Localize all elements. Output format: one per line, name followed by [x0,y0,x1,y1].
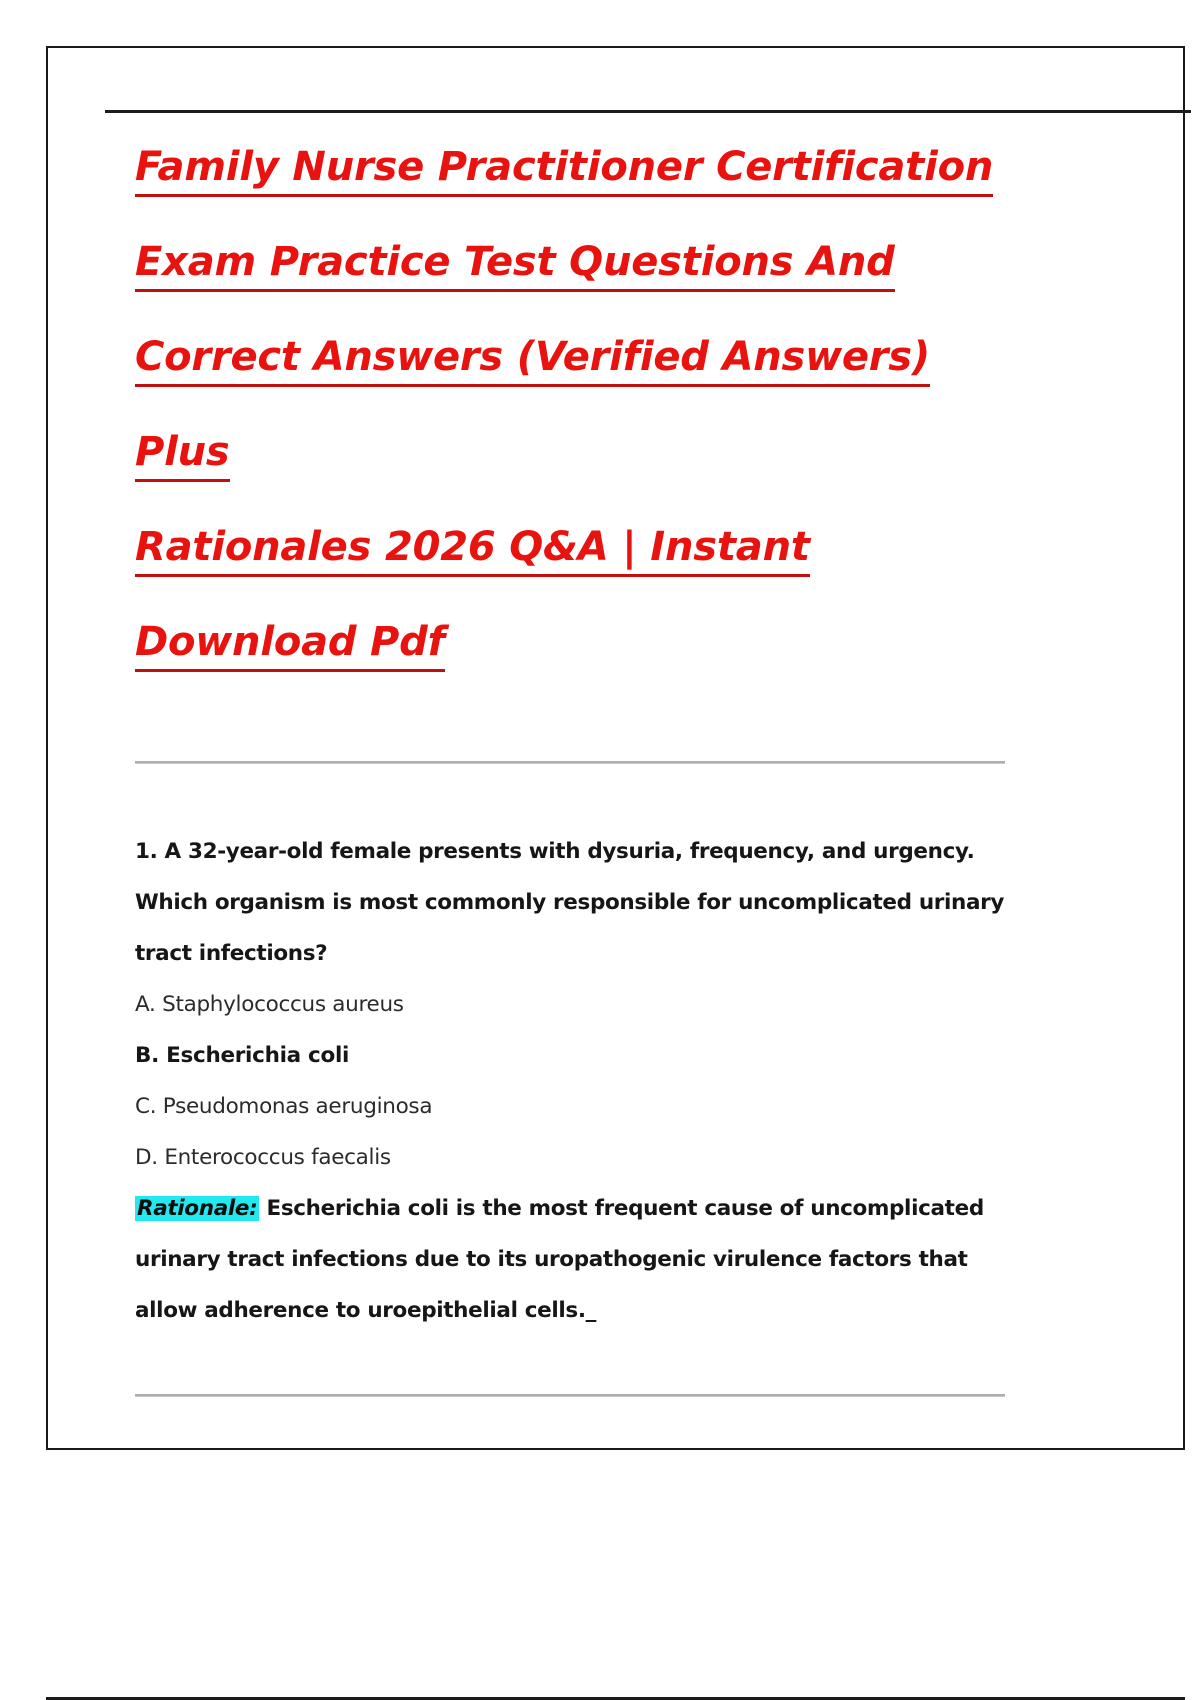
question-stem: 1. A 32-year-old female presents with dy… [135,826,1007,979]
page-top-rule [105,110,1191,113]
rationale-paragraph: Rationale: Escherichia coli is the most … [135,1183,1007,1336]
rationale-label: Rationale: [135,1196,259,1221]
question-block: 1. A 32-year-old female presents with dy… [135,826,1010,1336]
rationale-text: Escherichia coli is the most frequent ca… [135,1196,984,1323]
title-line-4: Rationales 2026 Q&A | Instant [135,524,810,577]
answer-option-d[interactable]: D. Enterococcus faecalis [135,1132,1010,1183]
title-line-1: Family Nurse Practitioner Certification [135,144,993,197]
page-title: Family Nurse Practitioner Certification … [135,120,1015,690]
answer-option-a[interactable]: A. Staphylococcus aureus [135,979,1010,1030]
title-line-2: Exam Practice Test Questions And [135,239,895,292]
document-content: Family Nurse Practitioner Certification … [135,120,1010,1397]
answer-option-c[interactable]: C. Pseudomonas aeruginosa [135,1081,1010,1132]
answer-option-b[interactable]: B. Escherichia coli [135,1030,1010,1081]
separator-rule-bottom [135,1394,1005,1397]
separator-rule-top [135,761,1005,764]
title-line-3: Correct Answers (Verified Answers) Plus [135,334,930,482]
title-line-5: Download Pdf [135,619,445,672]
